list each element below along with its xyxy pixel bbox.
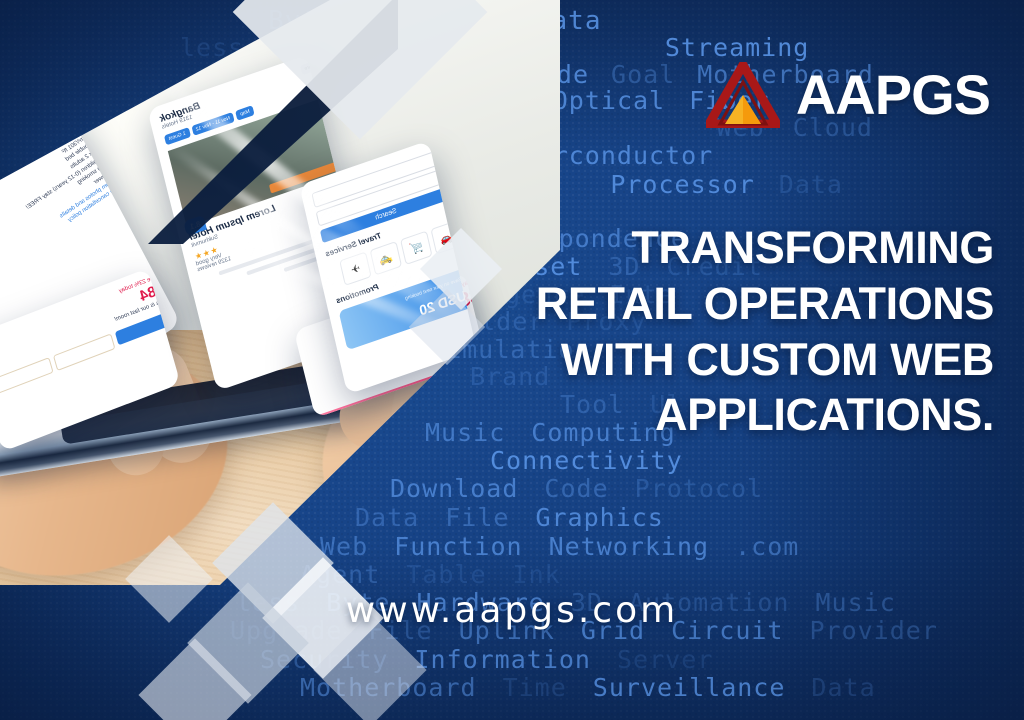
- website-url[interactable]: www.aapgs.com: [0, 590, 1024, 631]
- wordcloud-word: Connectivity: [490, 446, 683, 475]
- chip-guests: 1 Guest: [164, 127, 191, 145]
- brand-logo[interactable]: AAPGS: [706, 62, 990, 128]
- wordcloud-word: Table: [406, 560, 486, 589]
- wordcloud-row: SecurityInformationServer: [0, 645, 1024, 674]
- wordcloud-row: MotherboardTimeSurveillanceData: [0, 673, 1024, 702]
- wordcloud-word: Information: [414, 645, 591, 674]
- chip-map: Map: [235, 105, 254, 120]
- promo-banner: ByteDatalessEarningsIdeaStreamingsignPro…: [0, 0, 1024, 720]
- headline: TRANSFORMING RETAIL OPERATIONS WITH CUST…: [394, 220, 994, 443]
- wordcloud-word: Server: [617, 645, 713, 674]
- wordcloud-word: Networking: [549, 532, 710, 561]
- wordcloud-word: Goal: [611, 60, 675, 89]
- wordcloud-word: Motherboard: [300, 673, 477, 702]
- wordcloud-word: Time: [503, 673, 567, 702]
- wordcloud-word: .com: [735, 532, 799, 561]
- wordcloud-word: Data: [811, 673, 875, 702]
- plane-icon: ✈: [339, 251, 371, 285]
- headline-line-3: WITH CUSTOM WEB: [394, 332, 994, 388]
- headline-line-2: RETAIL OPERATIONS: [394, 276, 994, 332]
- headline-line-4: APPLICATIONS.: [394, 387, 994, 443]
- wordcloud-word: Security: [260, 645, 388, 674]
- wordcloud-word: Optical: [553, 86, 665, 115]
- wordcloud-word: Surveillance: [593, 673, 786, 702]
- wordcloud-word: Code: [544, 474, 608, 503]
- wordcloud-word: Data: [355, 503, 419, 532]
- wordcloud-word: Web: [320, 532, 368, 561]
- wordcloud-word: Function: [394, 532, 522, 561]
- wordcloud-word: Protocol: [635, 474, 763, 503]
- wordcloud-word: File: [445, 503, 509, 532]
- brand-name: AAPGS: [796, 67, 990, 123]
- wordcloud-word: Agent: [300, 560, 380, 589]
- triangle-logo-icon: [706, 62, 780, 128]
- wordcloud-word: Download: [390, 474, 518, 503]
- wordcloud-word: Streaming: [665, 33, 809, 62]
- wordcloud-word: Graphics: [535, 503, 663, 532]
- headline-line-1: TRANSFORMING: [394, 220, 994, 276]
- wordcloud-word: Ink: [513, 560, 561, 589]
- wordcloud-word: Processor: [610, 170, 754, 199]
- wordcloud-word: Data: [779, 170, 843, 199]
